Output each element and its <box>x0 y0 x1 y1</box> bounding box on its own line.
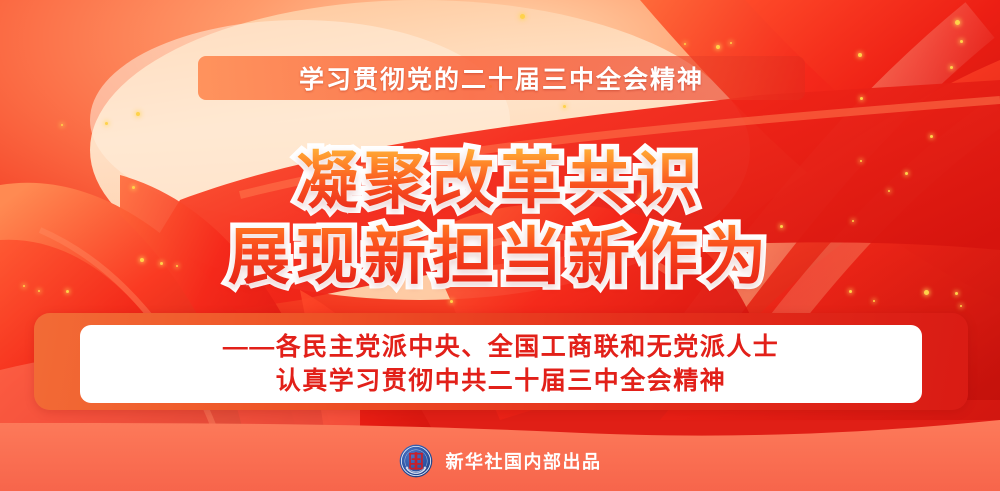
subtitle-line-1: ——各民主党派中央、全国工商联和无党派人士 <box>223 330 780 365</box>
headline-line-2: 展现新担当新作为 展现新担当新作为 <box>0 226 1000 290</box>
footer: 新华社国内部出品 <box>0 440 1000 482</box>
headline-line-1: 凝聚改革共识 凝聚改革共识 <box>0 150 1000 214</box>
subtitle-line-2: 认真学习贯彻中共二十届三中全会精神 <box>276 364 727 399</box>
headline: 凝聚改革共识 凝聚改革共识 展现新担当新作为 展现新担当新作为 <box>0 150 1000 291</box>
subtitle-box: ——各民主党派中央、全国工商联和无党派人士 认真学习贯彻中共二十届三中全会精神 <box>80 325 922 403</box>
footer-text: 新华社国内部出品 <box>446 448 602 474</box>
top-banner: 学习贯彻党的二十届三中全会精神 <box>198 56 805 100</box>
headline-line-2-fill: 展现新担当新作为 <box>228 223 772 292</box>
top-banner-text: 学习贯彻党的二十届三中全会精神 <box>299 60 704 96</box>
headline-line-1-fill: 凝聚改革共识 <box>296 147 704 216</box>
poster-canvas: 学习贯彻党的二十届三中全会精神 凝聚改革共识 凝聚改革共识 展现新担当新作为 展… <box>0 0 1000 491</box>
xinhua-news-agency-logo-icon <box>399 444 433 478</box>
